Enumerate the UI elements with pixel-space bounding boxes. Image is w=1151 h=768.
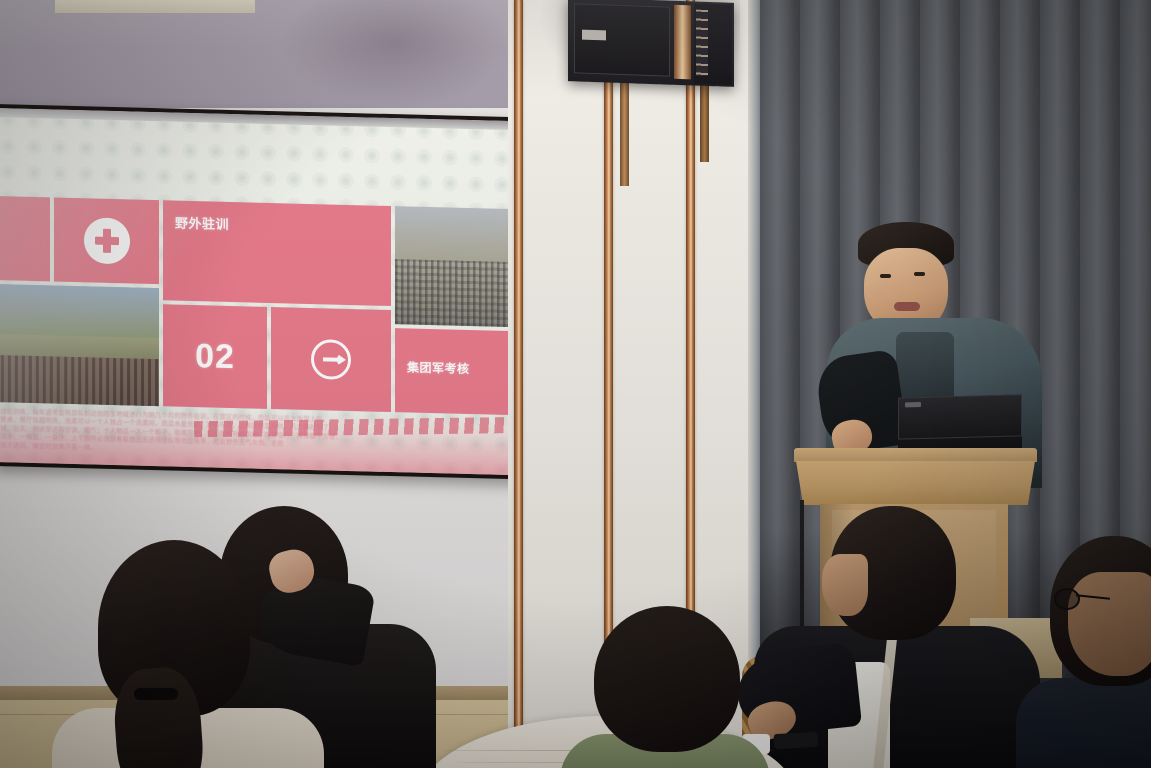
presenter-mouth <box>894 302 920 311</box>
slide-surface[interactable]: 野外驻训 02 集团军考核 为了贴近实战化训练，每年通常会将部队机动到陌生地域进… <box>0 108 517 475</box>
presenter-eye-left <box>880 274 891 278</box>
phone[interactable] <box>774 732 819 749</box>
medical-cross-icon <box>84 217 130 264</box>
hair-tie <box>134 688 178 700</box>
podium-top <box>794 448 1037 462</box>
presentation-scene: 野外驻训 02 集团军考核 为了贴近实战化训练，每年通常会将部队机动到陌生地域进… <box>0 0 1151 768</box>
tanks-field-photo <box>0 283 159 406</box>
speaker-grille <box>574 3 670 76</box>
navy-top <box>1016 678 1151 768</box>
ceiling-speaker <box>568 0 734 87</box>
head <box>594 606 740 752</box>
speaker-copper-accent <box>674 5 691 80</box>
presenter-eye-right <box>914 272 925 276</box>
face <box>822 554 868 616</box>
slide-section-number-tile: 02 <box>163 304 267 409</box>
slide-tile-cross <box>54 198 159 285</box>
slide-title-tile: 野外驻训 <box>163 200 391 306</box>
photo-formation-rows <box>395 259 517 328</box>
copper-trim-strip <box>514 0 523 768</box>
photo-mountains <box>0 283 159 337</box>
speaker-vent <box>696 10 708 76</box>
presenter-jacket-placket <box>896 332 954 404</box>
laptop-logo-icon <box>905 402 921 407</box>
face <box>1068 572 1151 676</box>
arrow-right-icon <box>311 339 351 380</box>
slide-brush-stroke <box>194 417 517 437</box>
glasses-icon <box>1054 588 1080 610</box>
slide-title: 野外驻训 <box>175 213 229 233</box>
slide-section-number: 02 <box>163 304 267 409</box>
slide-tile-accent <box>0 195 50 281</box>
projection-screen[interactable]: 野外驻训 02 集团军考核 为了贴近实战化训练，每年通常会将部队机动到陌生地域进… <box>0 104 520 479</box>
speaker-mount-post <box>620 66 629 186</box>
slide-bottom-wash <box>0 404 517 475</box>
slide-caption: 集团军考核 <box>407 358 470 377</box>
photo-tank-row <box>0 354 159 406</box>
audience-woman-ponytail <box>58 540 318 768</box>
audience-man-glasses <box>1028 536 1151 768</box>
slide-arrow-tile <box>271 307 391 412</box>
troop-formation-photo <box>395 206 517 328</box>
podium-apron <box>796 461 1035 505</box>
laptop[interactable] <box>898 394 1022 453</box>
slide-caption-tile: 集团军考核 <box>395 328 517 416</box>
ceiling-panel <box>55 0 255 13</box>
speaker-badge <box>582 30 606 41</box>
audience-person-green <box>560 606 770 768</box>
wall-shadow <box>280 0 510 108</box>
